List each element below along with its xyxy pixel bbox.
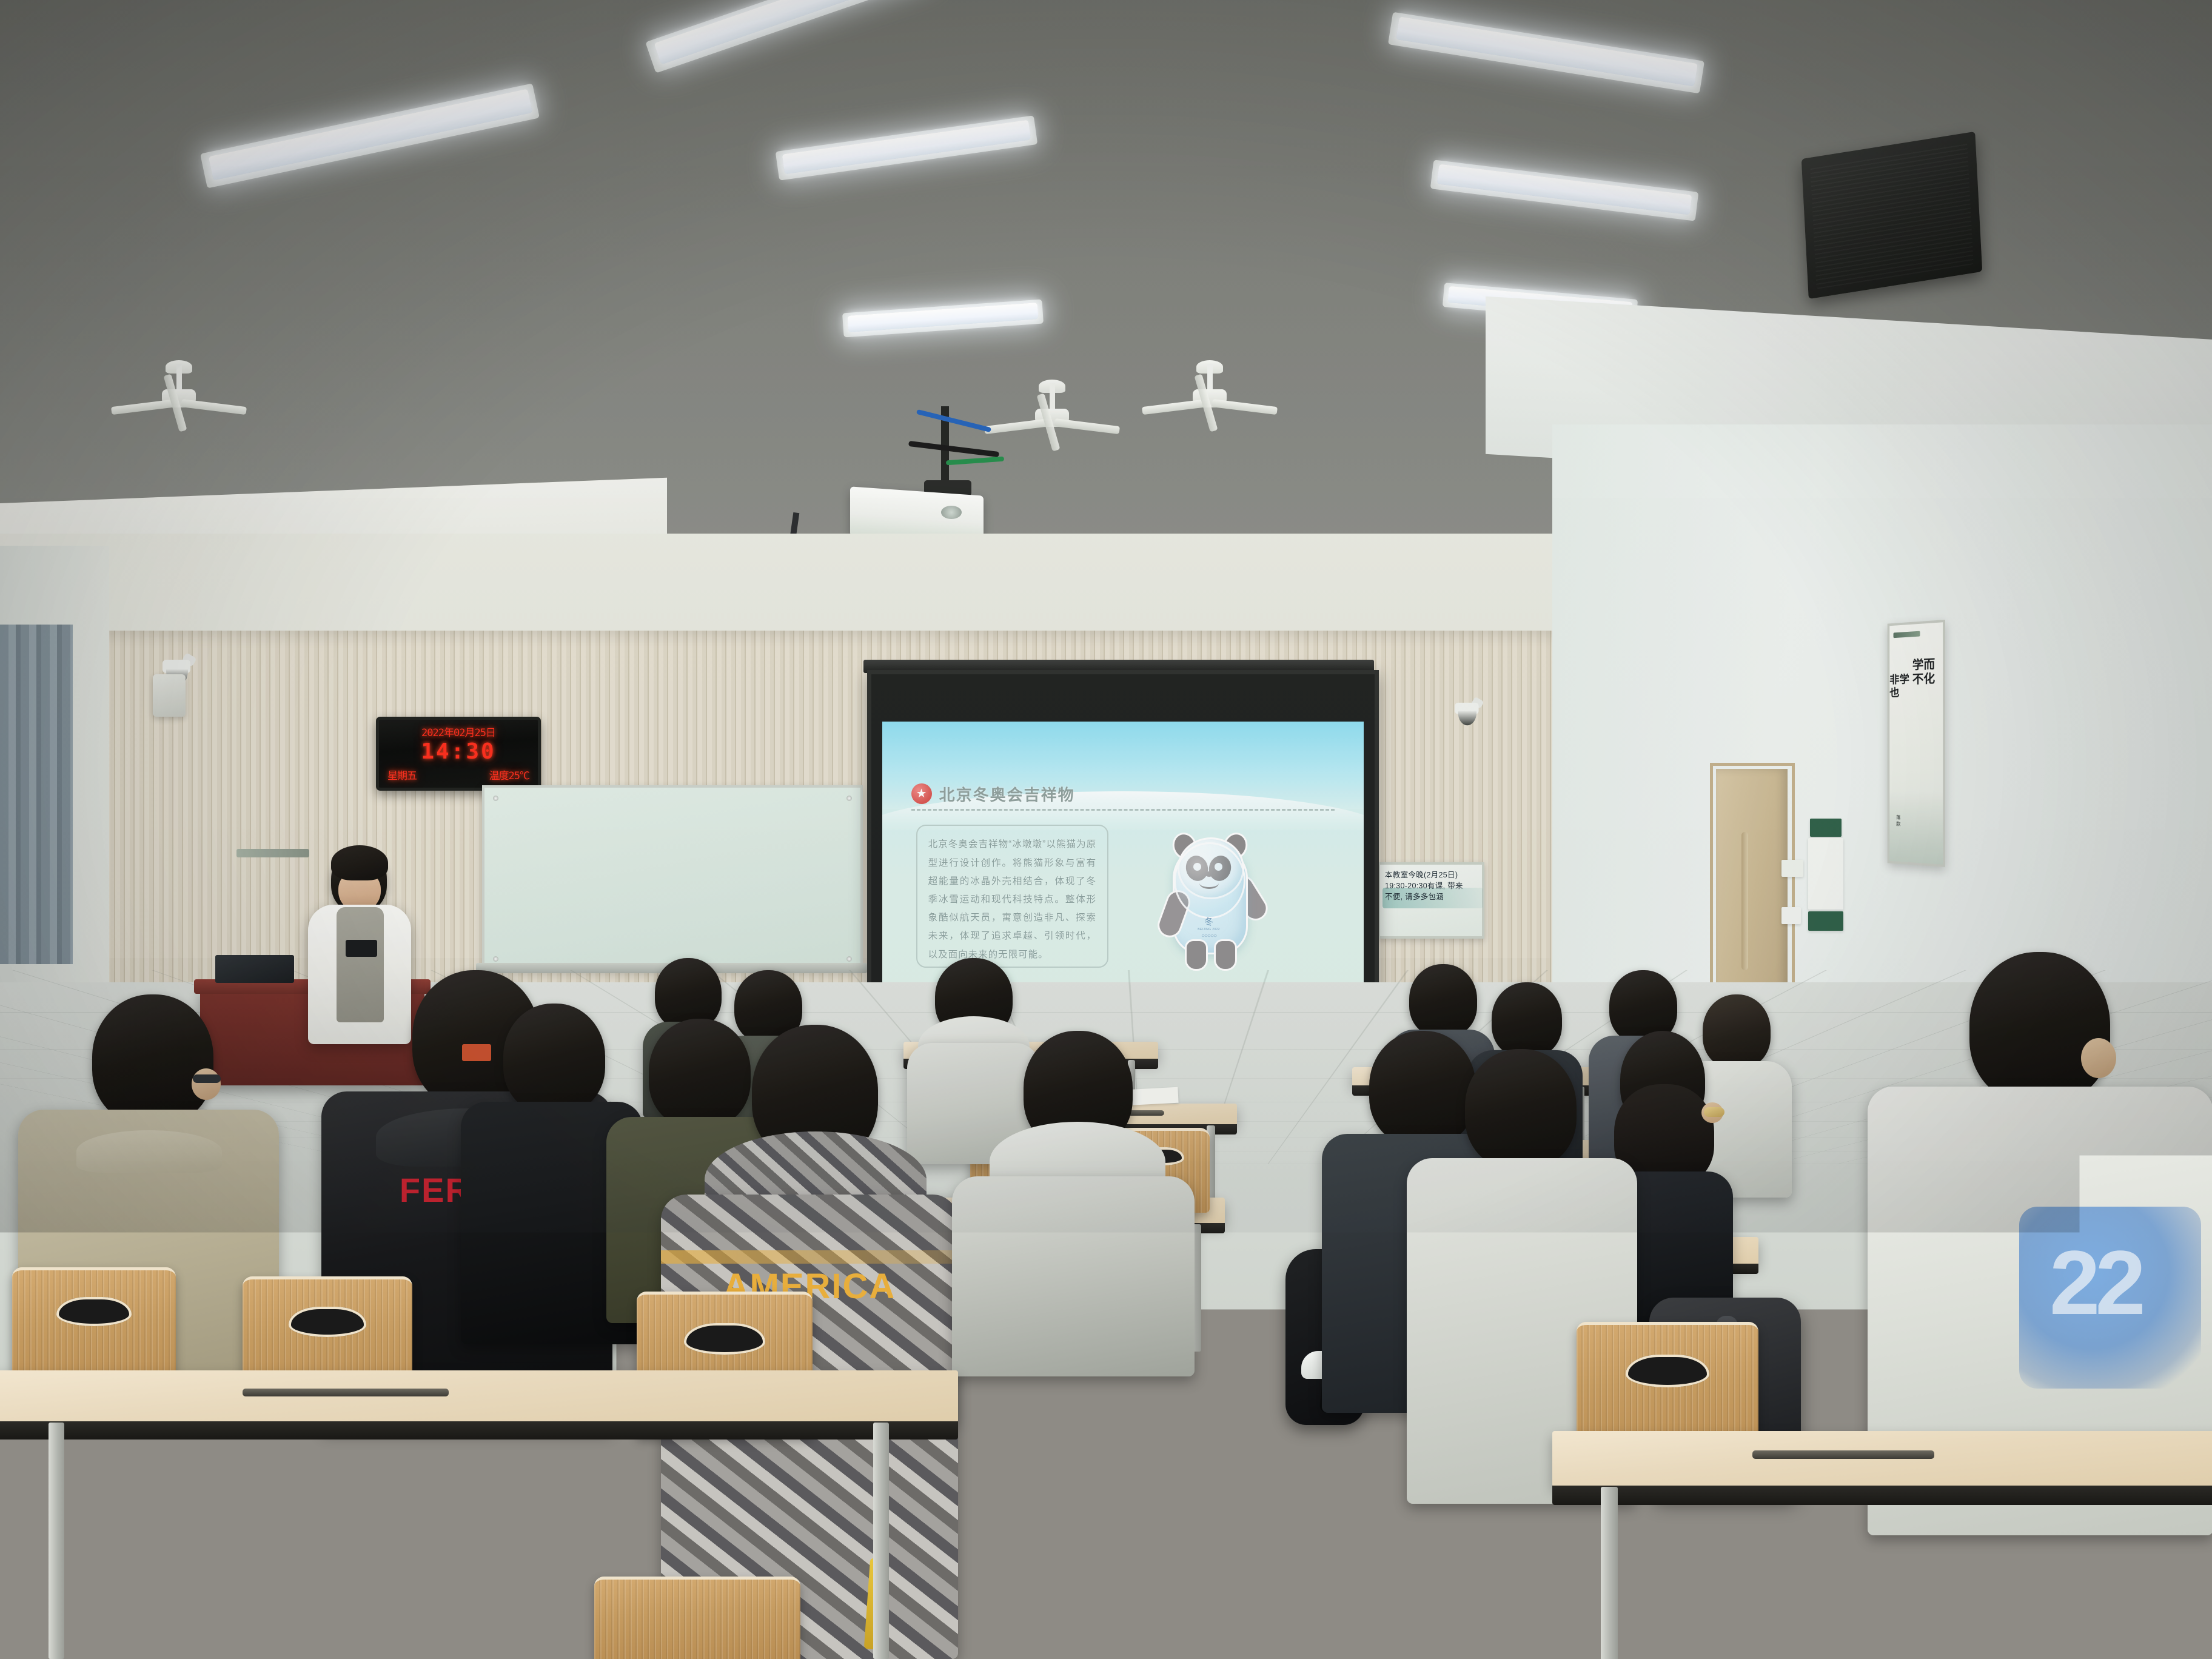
jacket-graphic-text: 22 bbox=[2049, 1237, 2177, 1343]
grey-hoodie-body bbox=[952, 1176, 1195, 1376]
calligraphy-seal bbox=[1894, 631, 1920, 638]
ceiling-fan-center bbox=[1140, 364, 1279, 437]
jacket-collar bbox=[76, 1130, 222, 1173]
light-switch[interactable] bbox=[1781, 907, 1801, 924]
mascot-leg-left bbox=[1185, 939, 1208, 971]
calligraphy-signature: 落款 bbox=[1896, 815, 1904, 828]
clock-time: 14:30 bbox=[379, 739, 538, 764]
calligraphy-column-1: 学而不化 bbox=[1912, 656, 1943, 699]
clock-weekday: 星期五 bbox=[387, 767, 417, 782]
exit-sign bbox=[1810, 819, 1842, 837]
bing-dwen-dwen-mascot: 冬 BEIJING 2022 ○○○○○ bbox=[1157, 826, 1272, 978]
instructor-hair bbox=[331, 845, 388, 880]
lectern-monitor bbox=[215, 955, 294, 983]
door-groove bbox=[1741, 832, 1748, 970]
ear bbox=[2081, 1038, 2116, 1078]
wall-speaker-left bbox=[153, 674, 186, 717]
clock-date: 2022年02月25日 bbox=[379, 724, 538, 739]
handwritten-notice-board: 本教室今晚(2月25日) 19:30-20:30有课, 带来 不便, 请多多包涵 bbox=[1378, 862, 1484, 939]
olympic-rings-icon: ○○○○○ bbox=[1201, 933, 1216, 939]
mascot-ice-shell bbox=[1174, 842, 1245, 919]
student-head bbox=[503, 1004, 605, 1114]
mascot-leg-right bbox=[1214, 939, 1237, 971]
marker-holder bbox=[236, 849, 309, 857]
olympic-logo-caption: BEIJING 2022 bbox=[1198, 928, 1220, 931]
notice-line-1: 本教室今晚(2月25日) bbox=[1385, 870, 1477, 881]
olympic-logo-glyph: 冬 bbox=[1204, 917, 1213, 927]
slide-header: ★ 北京冬奥会吉祥物 bbox=[911, 783, 1075, 805]
desk-leg bbox=[1601, 1487, 1618, 1659]
shirt-graphic bbox=[346, 940, 377, 957]
student-head bbox=[1969, 952, 2110, 1104]
glasses-temple bbox=[1704, 1107, 1724, 1117]
slide-divider bbox=[911, 809, 1335, 811]
hoodie-stripe bbox=[661, 1250, 958, 1264]
wall-speaker-right bbox=[1801, 132, 1983, 299]
notice-line-3: 不便, 请多多包涵 bbox=[1385, 892, 1477, 903]
desk-front-left bbox=[0, 1370, 958, 1423]
ceiling-fan-right bbox=[982, 383, 1122, 456]
student-grey-hoodie-front bbox=[952, 1031, 1195, 1370]
info-placard bbox=[1808, 838, 1843, 910]
notice-line-2: 19:30-20:30有课, 带来 bbox=[1385, 881, 1477, 892]
calligraphy-text: 学而不化 非学也 bbox=[1889, 656, 1943, 700]
olympic-logo: 冬 BEIJING 2022 ○○○○○ bbox=[1195, 917, 1224, 942]
clock-temperature: 温度25℃ bbox=[489, 767, 529, 782]
student-head bbox=[1465, 1049, 1577, 1169]
chair-back-bottom-1 bbox=[36, 1552, 236, 1659]
dome-security-camera bbox=[1452, 703, 1481, 729]
red-star-badge-icon: ★ bbox=[911, 783, 932, 804]
desk-leg bbox=[873, 1423, 889, 1659]
classroom-scene: 2022年02月25日 14:30 星期五 温度25℃ 本教室今晚(2月25日)… bbox=[0, 0, 2212, 1659]
shoe bbox=[994, 1558, 1110, 1619]
slide-heading: 北京冬奥会吉祥物 bbox=[939, 783, 1075, 805]
chair-back-bottom-2 bbox=[594, 1577, 800, 1659]
projector-lens bbox=[941, 506, 962, 519]
desk-front-right bbox=[1552, 1431, 2212, 1487]
calligraphy-wall-art: 学而不化 非学也 落款 bbox=[1888, 620, 1945, 867]
front-whiteboard bbox=[482, 785, 863, 972]
glasses-temple bbox=[193, 1074, 221, 1083]
speaker-grill bbox=[1810, 141, 1973, 289]
slide-body-textbox: 北京冬奥会吉祥物“冰墩墩”以熊猫为原型进行设计创作。将熊猫形象与富有超能量的冰晶… bbox=[916, 825, 1109, 967]
window-curtain bbox=[0, 625, 73, 964]
ceiling-fan-left bbox=[109, 364, 249, 437]
green-placard bbox=[1808, 911, 1843, 931]
ear bbox=[192, 1068, 221, 1100]
ink-wash-background bbox=[1889, 791, 1943, 865]
led-wall-clock: 2022年02月25日 14:30 星期五 温度25℃ bbox=[376, 717, 541, 791]
small-label bbox=[1781, 860, 1803, 877]
calligraphy-column-2: 非学也 bbox=[1889, 658, 1909, 700]
student-head bbox=[92, 994, 213, 1125]
